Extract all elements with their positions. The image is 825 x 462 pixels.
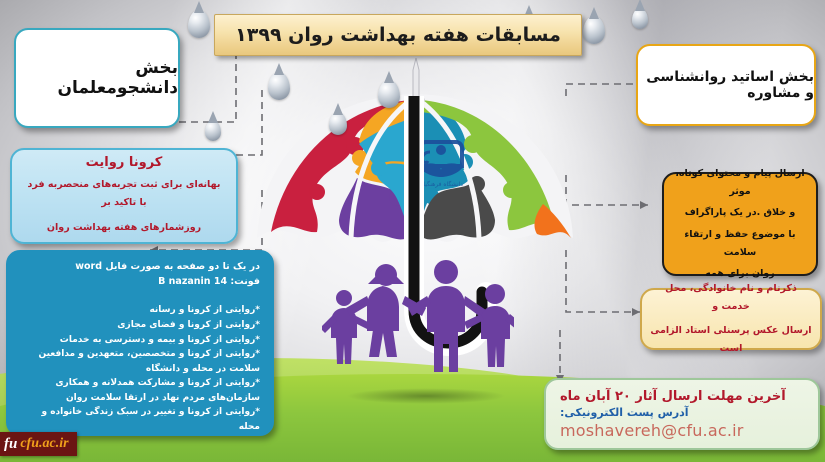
site-logo-url: cfu.ac.ir xyxy=(20,436,68,452)
deadline-email-card: آخرین مهلت ارسال آثار ۲۰ آبان ماه آدرس پ… xyxy=(544,378,820,450)
message-line-2: و خلاق .در یک پاراگراف xyxy=(685,204,796,222)
requirement-line-2: ارسال عکس پرسنلی استاد الزامی است xyxy=(650,322,812,358)
format-item-3: *روایتی از کرونا و متخصصین، متعهدین و مد… xyxy=(18,347,260,376)
format-item-5: *روایتی از کرونا و تغییر در سبک زندگی خا… xyxy=(18,405,260,434)
deadline-text: آخرین مهلت ارسال آثار ۲۰ آبان ماه xyxy=(560,389,786,404)
raindrop-icon xyxy=(188,10,210,38)
site-logo-mark: fu xyxy=(4,436,17,453)
format-item-0: *روایتی از کرونا و رسانه xyxy=(18,303,260,318)
page-title: مسابقات هفته بهداشت روان ۱۳۹۹ xyxy=(235,24,561,46)
topic-line-1: بهانه‌ای برای ثبت تجربه‌های منحصربه فرد … xyxy=(24,176,224,212)
message-line-3: با موضوع حفظ و ارتقاء سلامت xyxy=(672,226,808,262)
format-spec-line: در یک تا دو صفحه به صورت فایل word xyxy=(18,260,260,275)
requirement-card: ذکرنام و نام خانوادگی، محل خدمت و ارسال … xyxy=(640,288,822,350)
format-font-line: فونت: B nazanin 14 xyxy=(18,275,260,290)
right-section-card: بخش اساتید روانشناسی و مشاوره xyxy=(636,44,816,126)
raindrop-icon xyxy=(378,80,400,108)
raindrop-icon xyxy=(583,16,605,44)
left-section-title: بخش دانشجومعلمان xyxy=(16,58,178,98)
raindrop-icon xyxy=(268,72,290,100)
message-card: ارسال پیام و محتوای کوتاه، موثر و خلاق .… xyxy=(662,172,818,276)
left-section-card: بخش دانشجومعلمان xyxy=(14,28,180,128)
raindrop-icon xyxy=(632,8,648,29)
topic-card: کرونا روایت بهانه‌ای برای ثبت تجربه‌های … xyxy=(10,148,238,244)
requirement-line-1: ذکرنام و نام خانوادگی، محل خدمت و xyxy=(650,280,812,316)
topic-heading: کرونا روایت xyxy=(86,155,163,170)
email-label: آدرس پست الکترونیکی: xyxy=(560,406,689,419)
family-silhouette xyxy=(322,258,514,378)
format-item-1: *روایتی از کرونا و فضای مجازی xyxy=(18,318,260,333)
format-item-2: *روایتی از کرونا و بیمه و دسترسی به خدما… xyxy=(18,333,260,348)
format-card: در یک تا دو صفحه به صورت فایل word فونت:… xyxy=(6,250,274,436)
message-line-1: ارسال پیام و محتوای کوتاه، موثر xyxy=(672,165,808,201)
format-item-4: *روایتی از کرونا و مشارکت همدلانه و همکا… xyxy=(18,376,260,405)
raindrop-icon xyxy=(329,112,347,135)
poster-canvas: دانشگاه فرهنگیان xyxy=(0,0,825,462)
email-address[interactable]: moshavereh@cfu.ac.ir xyxy=(560,421,744,440)
right-section-title: بخش اساتید روانشناسی و مشاوره xyxy=(638,69,814,101)
site-logo[interactable]: fu cfu.ac.ir xyxy=(0,432,77,456)
topic-line-2: روزشمارهای هفته بهداشت روان xyxy=(47,219,201,237)
raindrop-icon xyxy=(205,120,221,141)
poster-title-banner: مسابقات هفته بهداشت روان ۱۳۹۹ xyxy=(214,14,582,56)
